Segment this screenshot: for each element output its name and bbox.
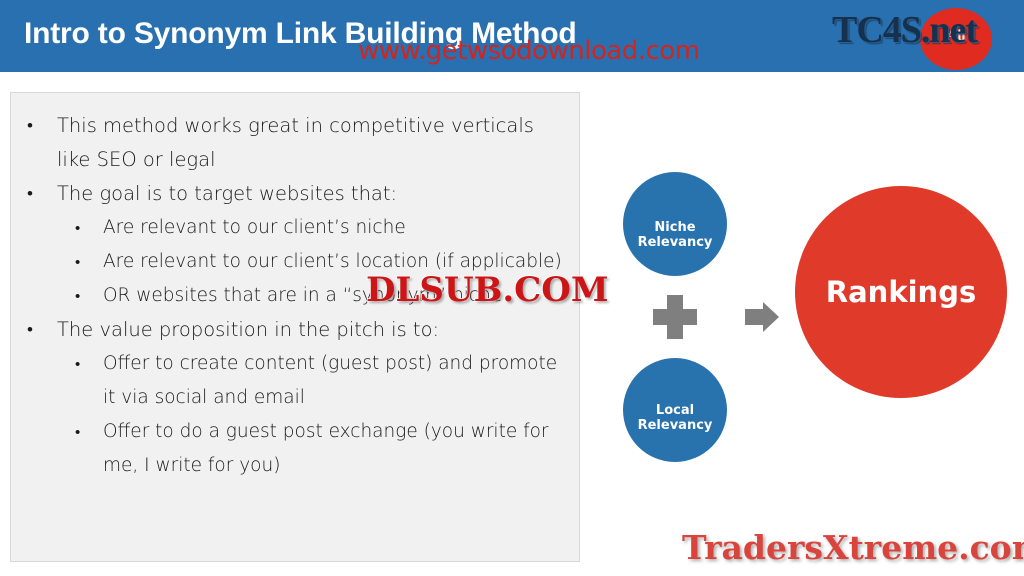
diagram-circle-rankings: Rankings	[795, 186, 1007, 398]
local-label-line1: Local	[656, 403, 694, 418]
niche-label-line2: Relevancy	[638, 235, 713, 250]
rankings-label: Rankings	[826, 275, 976, 309]
arrow-right-icon	[745, 300, 779, 334]
bullet-text: Offer to create content (guest post) and…	[103, 347, 573, 415]
bullet-item: •Offer to do a guest post exchange (you …	[19, 415, 573, 483]
bullet-item: •The goal is to target websites that:	[19, 177, 573, 211]
plus-icon-vertical-bar	[667, 295, 683, 339]
bullet-marker-icon: •	[75, 245, 103, 279]
content-panel: •This method works great in competitive …	[10, 92, 580, 562]
bullet-marker-icon: •	[75, 347, 103, 381]
footer-watermark: TradersXtreme.com	[682, 528, 1024, 567]
bullet-item: •This method works great in competitive …	[19, 109, 573, 177]
bullet-text: The value proposition in the pitch is to…	[57, 313, 573, 347]
bullet-marker-icon: •	[75, 279, 103, 313]
bullet-text: This method works great in competitive v…	[57, 109, 573, 177]
bullet-marker-icon: •	[27, 313, 57, 347]
bullet-text: Are relevant to our client’s niche	[103, 211, 573, 245]
concept-diagram: Niche Relevancy Local Relevancy Rankings	[590, 150, 1024, 490]
niche-label-line1: Niche	[654, 220, 695, 235]
slide-canvas: Intro to Synonym Link Building Method Al…	[0, 0, 1024, 576]
local-label-line2: Relevancy	[638, 418, 713, 433]
bullet-marker-icon: •	[75, 415, 103, 449]
diagram-circle-niche: Niche Relevancy	[623, 172, 727, 276]
bullet-marker-icon: •	[75, 211, 103, 245]
bullet-text: The goal is to target websites that:	[57, 177, 573, 211]
diagram-circle-local: Local Relevancy	[623, 358, 727, 462]
header-watermark: www.getwsodownload.com	[358, 36, 700, 66]
plus-icon	[653, 295, 697, 339]
bullet-item: •The value proposition in the pitch is t…	[19, 313, 573, 347]
bullet-marker-icon: •	[27, 109, 57, 143]
bullet-item: •Are relevant to our client’s niche	[19, 211, 573, 245]
center-watermark: DLSUB.COM	[366, 270, 608, 310]
bullet-item: •Offer to create content (guest post) an…	[19, 347, 573, 415]
brand-logo: All TC4S.net	[828, 0, 1024, 72]
bullet-marker-icon: •	[27, 177, 57, 211]
logo-wordmark: TC4S.net	[832, 8, 977, 52]
bullet-text: Offer to do a guest post exchange (you w…	[103, 415, 573, 483]
